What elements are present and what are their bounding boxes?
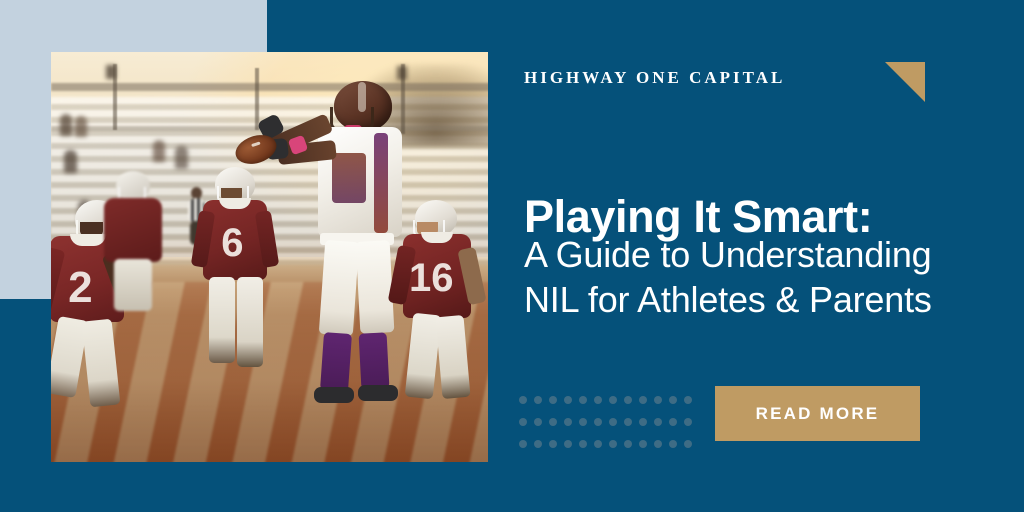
dot — [624, 440, 632, 448]
player-16-right-leg — [435, 315, 470, 399]
spectator-a — [60, 114, 72, 136]
dot — [684, 440, 692, 448]
player-6-number: 6 — [221, 223, 243, 263]
player-2-number: 2 — [68, 266, 92, 310]
receiver-jersey-stripe — [374, 133, 388, 233]
player-6-left-leg — [209, 277, 235, 363]
football-laces — [251, 142, 261, 148]
player-6-right-leg — [237, 277, 263, 367]
dot — [549, 396, 557, 404]
spectator-b — [75, 116, 87, 137]
dot — [684, 396, 692, 404]
dot — [519, 418, 527, 426]
dot — [654, 418, 662, 426]
dot — [624, 396, 632, 404]
dot — [669, 440, 677, 448]
player-defender-background-left — [100, 171, 170, 343]
receiver-right-cleat — [358, 385, 398, 401]
read-more-button[interactable]: READ MORE — [715, 386, 920, 441]
speaker-box-right — [397, 66, 407, 80]
dot — [564, 440, 572, 448]
brand-name: HIGHWAY ONE CAPITAL — [524, 68, 785, 88]
dot — [684, 418, 692, 426]
dot — [609, 440, 617, 448]
player-bg-left-legs — [114, 259, 152, 311]
dot — [639, 396, 647, 404]
page-subtitle-line-1: A Guide to Understanding — [524, 232, 1004, 277]
dot — [579, 418, 587, 426]
dot — [579, 396, 587, 404]
dot — [594, 418, 602, 426]
decorative-dot-grid — [519, 389, 699, 455]
dot — [639, 418, 647, 426]
dot — [639, 440, 647, 448]
dot — [579, 440, 587, 448]
dot — [609, 396, 617, 404]
dot — [549, 440, 557, 448]
dot — [534, 440, 542, 448]
dot — [564, 396, 572, 404]
promo-banner: 2 6 — [0, 0, 1024, 512]
football-photo: 2 6 — [51, 52, 494, 462]
dot — [669, 396, 677, 404]
spectator-d — [153, 140, 165, 162]
dot — [519, 396, 527, 404]
receiver-left-cleat — [314, 387, 354, 403]
player-bg-left-jersey — [104, 198, 162, 262]
player-16-collar — [421, 232, 453, 243]
player-defender-6: 6 — [197, 167, 275, 454]
dot — [519, 440, 527, 448]
dot — [654, 396, 662, 404]
player-16-number: 16 — [409, 258, 454, 298]
dot — [669, 418, 677, 426]
receiver-right-sock-purple — [358, 332, 389, 389]
dot — [594, 440, 602, 448]
page-subtitle: A Guide to Understanding NIL for Athlete… — [524, 232, 1004, 323]
receiver-left-leg — [318, 240, 358, 336]
player-defender-16: 16 — [401, 200, 483, 462]
light-pole-mid — [255, 68, 259, 130]
receiver-left-sock-purple — [320, 332, 352, 392]
photo-right-edge-accent — [488, 52, 494, 462]
dot — [594, 396, 602, 404]
speaker-box-left — [106, 65, 116, 79]
dot — [549, 418, 557, 426]
receiver-right-leg — [355, 240, 394, 334]
spectator-e — [175, 146, 188, 169]
gold-corner-triangle-icon — [885, 62, 925, 102]
dot — [534, 396, 542, 404]
page-subtitle-line-2: NIL for Athletes & Parents — [524, 277, 1004, 322]
dot — [654, 440, 662, 448]
fence-rail-upper — [51, 83, 494, 91]
dot — [564, 418, 572, 426]
receiver-jersey-number — [332, 153, 366, 203]
dot — [609, 418, 617, 426]
dot — [534, 418, 542, 426]
spectator-c — [64, 150, 77, 173]
dot — [624, 418, 632, 426]
